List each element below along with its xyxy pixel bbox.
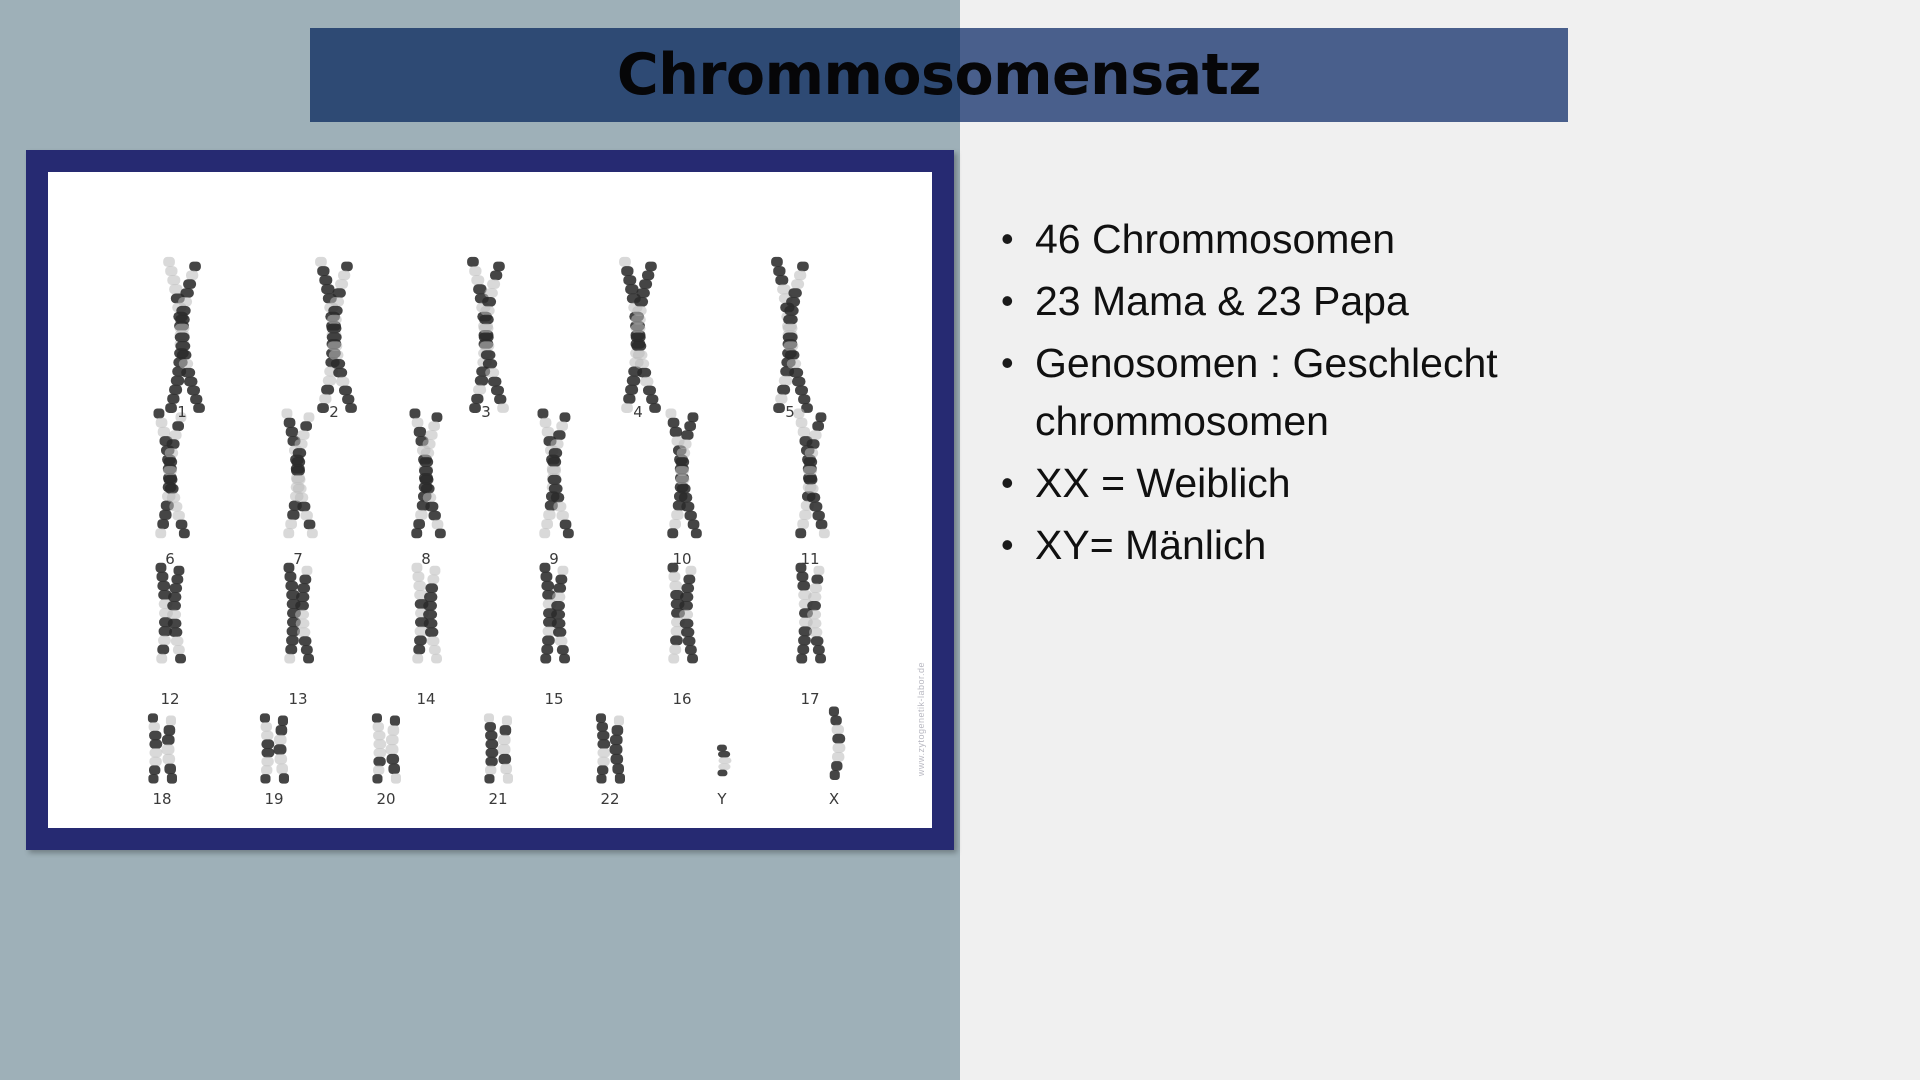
chromosome-label: 5: [785, 403, 795, 421]
chromosome-label: 15: [544, 690, 563, 708]
chromosome-label: 3: [481, 403, 491, 421]
list-item: • Genosomen : Geschlecht chrommosomen: [995, 334, 1715, 450]
bullet-marker-icon: •: [995, 516, 1035, 574]
bullet-marker-icon: •: [995, 210, 1035, 268]
chromosome-label: 21: [488, 790, 507, 808]
list-item: • 23 Mama & 23 Papa: [995, 272, 1715, 330]
watermark-text: www.zytogenetik-labor.de: [916, 662, 926, 776]
bullet-marker-icon: •: [995, 272, 1035, 330]
list-item-label: 46 Chrommosomen: [1035, 210, 1715, 268]
chromosome-label: 22: [600, 790, 619, 808]
title-bar: Chrommosomensatz: [310, 28, 1568, 122]
list-item-label: XY= Mänlich: [1035, 516, 1715, 574]
bullet-marker-icon: •: [995, 454, 1035, 512]
chromosome-label: 7: [293, 550, 303, 568]
chromosome-label: 12: [160, 690, 179, 708]
bullet-marker-icon: •: [995, 334, 1035, 392]
list-item-label: Genosomen : Geschlecht chrommosomen: [1035, 334, 1715, 450]
chromosome-label: 20: [376, 790, 395, 808]
chromosome-label: 8: [421, 550, 431, 568]
list-item: • XX = Weiblich: [995, 454, 1715, 512]
list-item: • 46 Chrommosomen: [995, 210, 1715, 268]
chromosome-label: X: [829, 790, 839, 808]
karyotype-plate: 12345678910111213141516171819202122YX ww…: [48, 172, 932, 828]
list-item: • XY= Mänlich: [995, 516, 1715, 574]
chromosome-label: 13: [288, 690, 307, 708]
karyotype-image-frame: 12345678910111213141516171819202122YX ww…: [26, 150, 954, 850]
chromosome-label: 4: [633, 403, 643, 421]
chromosome-label: 19: [264, 790, 283, 808]
chromosome-label: 18: [152, 790, 171, 808]
list-item-label: XX = Weiblich: [1035, 454, 1715, 512]
chromosome-label: 14: [416, 690, 435, 708]
presentation-slide: Chrommosomensatz 12345678910111213141516…: [0, 0, 1920, 1080]
chromosome-label: 11: [800, 550, 819, 568]
chromosome-label: 10: [672, 550, 691, 568]
karyotype-illustration: 12345678910111213141516171819202122YX: [48, 172, 932, 828]
chromosome-label: 9: [549, 550, 559, 568]
chromosome-label: 17: [800, 690, 819, 708]
list-item-label: 23 Mama & 23 Papa: [1035, 272, 1715, 330]
chromosome-label: Y: [716, 790, 727, 808]
chromosome-label: 16: [672, 690, 691, 708]
page-title: Chrommosomensatz: [310, 28, 1568, 122]
bullet-list: • 46 Chrommosomen • 23 Mama & 23 Papa • …: [995, 210, 1715, 578]
chromosome-label: 1: [177, 403, 187, 421]
chromosome-label: 2: [329, 403, 339, 421]
chromosome-label: 6: [165, 550, 175, 568]
